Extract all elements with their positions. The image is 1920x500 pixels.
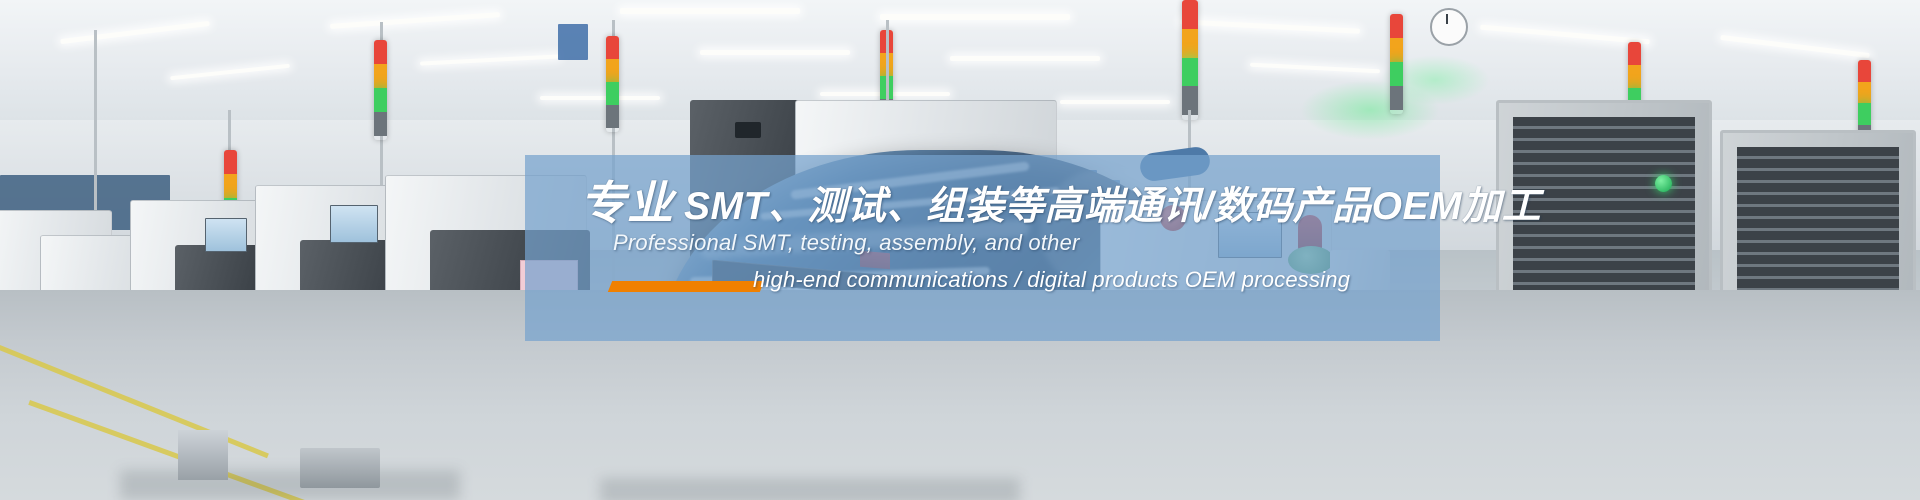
ceiling-light [950, 56, 1100, 61]
signal-tower-light [1390, 14, 1403, 114]
signal-tower-light [606, 36, 619, 132]
machine-base [178, 430, 228, 480]
ceiling-light [700, 50, 850, 55]
hero-banner: 专业SMT、测试、组装等高端通讯/数码产品OEM加工 Professional … [0, 0, 1920, 500]
signal-tower-light [1182, 0, 1198, 120]
hero-headline: 专业SMT、测试、组装等高端通讯/数码产品OEM加工 [580, 167, 1541, 233]
hero-subtitle-line-1: Professional SMT, testing, assembly, and… [613, 230, 1080, 256]
signal-tower-light [374, 40, 387, 140]
wall-clock [1430, 8, 1468, 46]
hero-subtitle-line-2: high-end communications / digital produc… [753, 267, 1350, 293]
cabinet-vent [735, 122, 761, 138]
floor-shadow [120, 470, 460, 500]
machine-display [205, 218, 247, 252]
ceiling-light [880, 14, 1070, 20]
machine-base [300, 448, 380, 488]
hero-headline-rest: SMT、测试、组装等高端通讯/数码产品OEM加工 [684, 185, 1541, 228]
wall-sign [558, 24, 588, 60]
ceiling-light [620, 8, 800, 14]
clock-hand [1446, 14, 1448, 24]
machine-display [330, 205, 378, 243]
ceiling-light [1060, 100, 1170, 104]
floor-shadow [600, 478, 1020, 500]
ceiling-light [540, 96, 660, 100]
accent-bar [608, 281, 764, 292]
hero-headline-lead: 专业 [580, 177, 674, 229]
hero-text-overlay: 专业SMT、测试、组装等高端通讯/数码产品OEM加工 Professional … [525, 155, 1440, 341]
rack-status-led [1655, 175, 1672, 192]
